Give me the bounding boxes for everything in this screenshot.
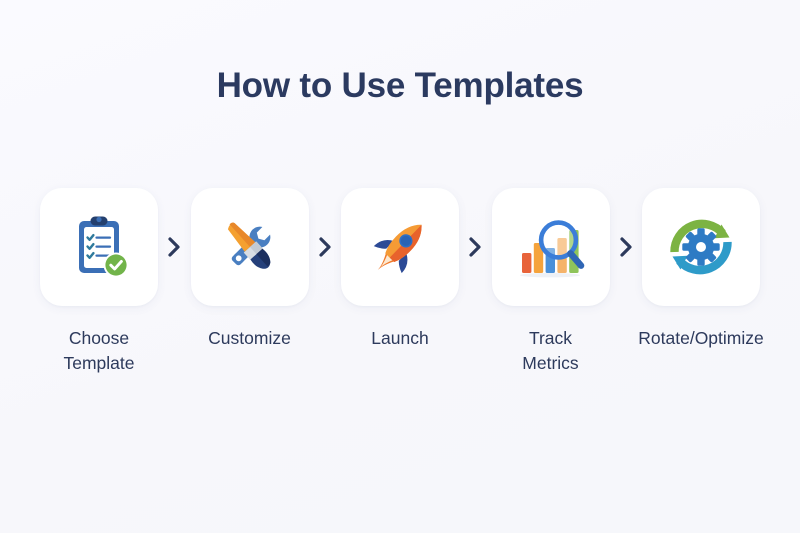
step-label: Launch	[325, 326, 475, 351]
step-choose-template[interactable]: Choose Template	[40, 188, 158, 376]
chevron-right-icon	[616, 235, 636, 259]
page-title: How to Use Templates	[0, 66, 800, 106]
chevron-right-icon	[315, 235, 335, 259]
process-flow: Choose Template	[40, 188, 760, 376]
step-customize[interactable]: Customize	[191, 188, 309, 351]
step-card[interactable]	[642, 188, 760, 306]
slide-canvas: How to Use Templates	[0, 0, 800, 533]
step-card[interactable]	[492, 188, 610, 306]
step-track-metrics[interactable]: Track Metrics	[492, 188, 610, 376]
step-label: Rotate/Optimize	[626, 326, 776, 351]
step-label: Choose Template	[24, 326, 174, 376]
step-label: Track Metrics	[476, 326, 626, 376]
refresh-cycle-gear-icon	[664, 210, 738, 284]
wrench-paintbrush-icon	[213, 210, 287, 284]
step-card[interactable]	[191, 188, 309, 306]
rocket-icon	[363, 210, 437, 284]
chevron-right-icon	[164, 235, 184, 259]
step-rotate-optimize[interactable]: Rotate/Optimize	[642, 188, 760, 351]
bar-chart-magnifier-icon	[514, 210, 588, 284]
clipboard-checklist-check-icon	[62, 210, 136, 284]
step-card[interactable]	[341, 188, 459, 306]
step-card[interactable]	[40, 188, 158, 306]
step-launch[interactable]: Launch	[341, 188, 459, 351]
chevron-right-icon	[465, 235, 485, 259]
step-label: Customize	[175, 326, 325, 351]
